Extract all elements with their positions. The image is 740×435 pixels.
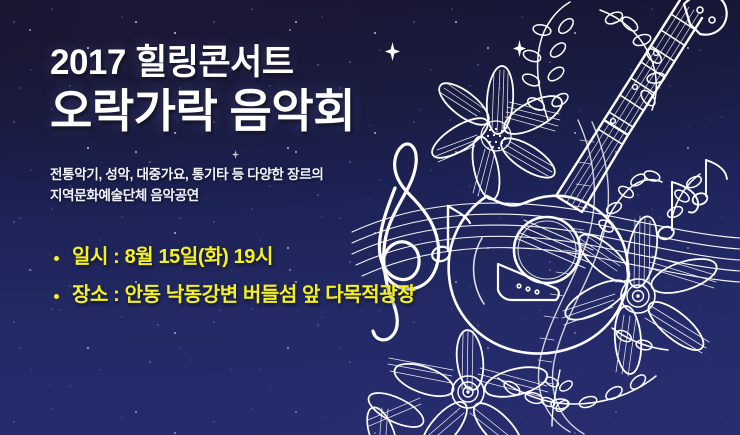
flower-right-line-art [560,214,721,376]
guitar-fretboard [556,120,628,212]
detail-item-venue: 장소 : 안동 낙동강변 버들섬 앞 다목적광장 [50,285,480,306]
leaf-vine [498,2,703,410]
flower-lower-line-art [388,329,550,435]
detail-item-date: 일시 : 8월 15일(화) 19시 [50,247,480,268]
poster-text-content: 2017 힐링콘서트 오락가락 음악회 전통악기, 성악, 대중가요, 통기타 … [50,42,480,322]
diamond-sparkle-icon [513,40,526,57]
flower-corner-line-art [361,386,428,435]
poster-detail-list: 일시 : 8월 15일(화) 19시 장소 : 안동 낙동강변 버들섬 앞 다목… [50,247,480,306]
eighth-notes-icon [657,160,727,241]
guitar-sound-hole [514,217,580,283]
ribbon-swirl [538,120,608,434]
poster-subtitle: 전통악기, 성악, 대중가요, 통기타 등 다양한 장르의 지역문화예술단체 음… [50,165,480,207]
poster-title-line-2: 오락가락 음악회 [50,84,480,139]
acoustic-guitar-line-art [449,0,727,353]
guitar-bridge [498,264,559,300]
leaf-sprig [540,370,574,426]
poster-title-line-1: 2017 힐링콘서트 [50,42,480,83]
guitar-headstock [684,0,727,35]
poster-subtitle-line-1: 전통악기, 성악, 대중가요, 통기타 등 다양한 장르의 [50,165,480,186]
poster-subtitle-line-2: 지역문화예술단체 음악공연 [50,186,480,207]
concert-poster: 2017 힐링콘서트 오락가락 음악회 전통악기, 성악, 대중가요, 통기타 … [0,0,740,435]
